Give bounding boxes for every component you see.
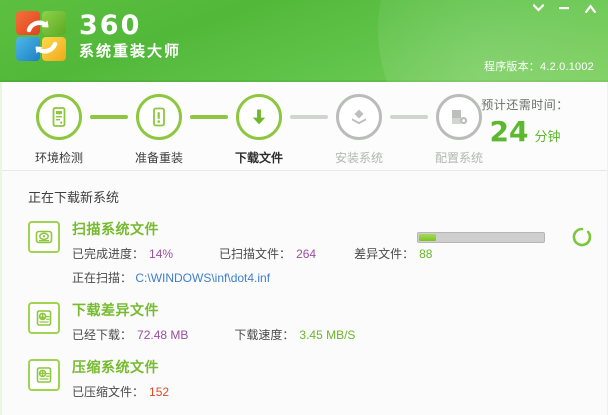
stat-value: 72.48 MB: [137, 328, 188, 342]
logo-number: 360: [79, 12, 181, 40]
stat-scanned-files: 已扫描文件： 264: [219, 245, 316, 262]
install-icon: [347, 105, 371, 129]
clipboard-icon: [147, 105, 171, 129]
eta-minutes: 24: [490, 118, 529, 146]
stat-key: 已压缩文件：: [72, 383, 144, 400]
task-scan-system-files: 扫描系统文件 已完成进度： 14% 已扫描文件： 264: [28, 220, 607, 286]
disk-drive-glyph-icon: [34, 227, 54, 247]
task-stats-row: 已压缩文件： 152: [72, 383, 607, 400]
step-circle: [136, 94, 182, 140]
step-list: 环境检测 准备重装: [2, 82, 490, 166]
step-label: 环境检测: [35, 149, 83, 166]
progress-bar: [417, 232, 545, 243]
task-title: 下载差异文件: [72, 301, 607, 319]
path-key: 正在扫描：: [72, 271, 132, 285]
title-bar: 360 系统重装大师 程序版本：4.2.0.1002: [0, 0, 608, 82]
step-indicator: 环境检测 准备重装: [2, 82, 607, 171]
stat-value: 264: [296, 247, 316, 261]
loading-spinner-icon: [571, 226, 593, 248]
dash-icon: [558, 4, 570, 12]
step-circle: [36, 94, 82, 140]
file-compress-icon: [28, 359, 60, 391]
stat-downloaded: 已经下载： 72.48 MB: [72, 326, 188, 343]
eta-value: 24 分钟: [459, 118, 591, 146]
logo-recycle-arrows-icon: [16, 11, 68, 63]
disk-drive-icon: [28, 221, 60, 253]
computer-icon: [47, 105, 71, 129]
task-stats-row: 已经下载： 72.48 MB 下载速度： 3.45 MB/S: [72, 326, 607, 343]
step-connector-1: [90, 115, 128, 119]
close-button[interactable]: [578, 1, 602, 16]
stat-download-speed: 下载速度： 3.45 MB/S: [234, 326, 355, 343]
task-body: 压缩系统文件 已压缩文件： 152: [72, 358, 607, 400]
step-label: 准备重装: [135, 149, 183, 166]
task-body: 下载差异文件 已经下载： 72.48 MB 下载速度： 3.45 MB/S: [72, 301, 607, 343]
file-download-glyph-icon: [34, 308, 54, 328]
step-label: 下载文件: [235, 149, 283, 166]
step-item-install-system[interactable]: 安装系统: [328, 94, 390, 166]
task-compress-system-files: 压缩系统文件 已压缩文件： 152: [28, 358, 607, 400]
stat-value: 3.45 MB/S: [299, 328, 355, 342]
content-area: 正在下载新系统 扫描系统文件 已完成进度：: [2, 171, 607, 400]
progress-area: [417, 226, 593, 248]
file-compress-glyph-icon: [34, 365, 54, 385]
eta-block: 预计还需时间： 24 分钟: [459, 96, 591, 146]
version-text: 程序版本：4.2.0.1002: [484, 58, 594, 74]
stat-key: 已扫描文件：: [219, 245, 291, 262]
task-current-path-row: 正在扫描： C:\WINDOWS\inf\dot4.inf: [72, 269, 607, 286]
logo-subtitle: 系统重装大师: [79, 42, 181, 62]
step-connector-2: [190, 115, 228, 119]
minimize-button[interactable]: [552, 1, 576, 16]
eta-label: 预计还需时间：: [459, 96, 591, 113]
stat-value: 14%: [149, 247, 173, 261]
download-icon: [247, 105, 271, 129]
stat-key: 差异文件：: [354, 245, 414, 262]
minimize-to-tray-button[interactable]: [526, 1, 550, 16]
logo-mark-icon: [16, 11, 68, 63]
stat-completed-progress: 已完成进度： 14%: [72, 245, 173, 262]
step-connector-3: [290, 115, 328, 119]
task-download-diff-files: 下载差异文件 已经下载： 72.48 MB 下载速度： 3.45 MB/S: [28, 301, 607, 343]
step-circle: [236, 94, 282, 140]
stat-key: 已经下载：: [72, 326, 132, 343]
app-logo: 360 系统重装大师: [16, 11, 181, 63]
step-label: 配置系统: [435, 149, 483, 166]
stat-value: 152: [149, 385, 169, 399]
eta-unit: 分钟: [534, 126, 560, 145]
progress-bar-fill: [419, 234, 436, 241]
close-x-icon: [585, 4, 596, 13]
main-panel: 环境检测 准备重装: [0, 82, 608, 415]
task-title: 压缩系统文件: [72, 358, 607, 376]
step-label: 安装系统: [335, 149, 383, 166]
step-item-prepare-reinstall[interactable]: 准备重装: [128, 94, 190, 166]
step-item-download-files[interactable]: 下载文件: [228, 94, 290, 166]
step-connector-4: [390, 115, 428, 119]
stat-key: 下载速度：: [234, 326, 294, 343]
window-controls: [526, 0, 602, 16]
step-circle: [336, 94, 382, 140]
path-value: C:\WINDOWS\inf\dot4.inf: [135, 271, 270, 285]
step-item-environment-check[interactable]: 环境检测: [28, 94, 90, 166]
stat-value: 88: [419, 247, 432, 261]
content-title: 正在下载新系统: [28, 187, 607, 206]
stat-compressed-files: 已压缩文件： 152: [72, 383, 169, 400]
file-download-icon: [28, 302, 60, 334]
logo-text: 360 系统重装大师: [79, 11, 181, 62]
spinner-glyph-icon: [571, 226, 593, 248]
stat-key: 已完成进度：: [72, 245, 144, 262]
app-window: 360 系统重装大师 程序版本：4.2.0.1002: [0, 0, 608, 415]
chevron-down-icon: [533, 4, 544, 12]
